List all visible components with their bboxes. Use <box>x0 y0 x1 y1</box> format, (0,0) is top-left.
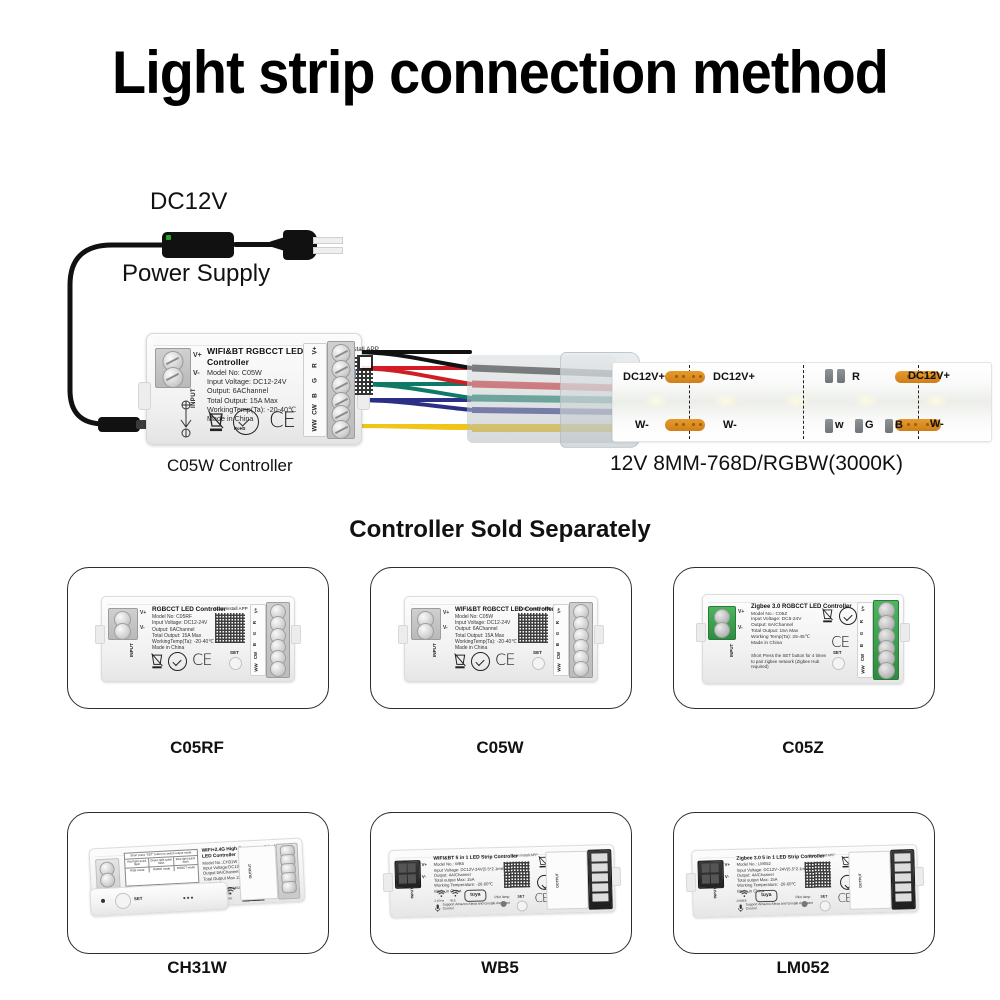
input-terminal-block <box>108 608 138 640</box>
screw-icon <box>270 661 286 677</box>
weee-bin-icon <box>821 607 834 623</box>
output-terminal-label-g: G <box>555 632 560 635</box>
set-button[interactable] <box>832 657 845 670</box>
terminal-slot <box>592 863 608 871</box>
microphone-icon <box>738 904 744 913</box>
output-terminal-labels: V+ R G B CW WW <box>857 602 873 678</box>
strip-label-dc12v-1: DC12V+ <box>623 371 665 383</box>
strip-label-r: R <box>852 371 860 383</box>
input-label: INPUT <box>129 643 134 657</box>
output-terminal-label-ww: WW <box>312 418 319 434</box>
led-strip-caption: 12V 8MM-768D/RGBW(3000K) <box>610 452 903 476</box>
card-caption-c05rf: C05RF <box>67 738 327 758</box>
qr-caption: Scan install APP <box>808 853 834 858</box>
contact-pad <box>825 419 833 433</box>
terminal-slot <box>895 883 911 891</box>
output-terminal-label-ww: WW <box>557 663 562 671</box>
output-terminal-block <box>266 602 290 678</box>
input-label: INPUT <box>410 888 414 899</box>
output-terminal-block <box>873 600 899 680</box>
strip-label-g: G <box>865 419 874 431</box>
input-terminal-block <box>411 608 441 640</box>
output-terminal-label-ww: WW <box>861 665 866 673</box>
weee-bin-icon <box>207 410 225 432</box>
terminal-slot <box>592 873 608 881</box>
input-label: INPUT <box>713 888 717 899</box>
output-terminal-block <box>275 843 300 900</box>
input-terminal-label-vplus: V+ <box>724 862 730 867</box>
output-terminal-label-cw: CW <box>312 402 319 418</box>
mounting-ear-right <box>900 623 910 642</box>
qr-code-icon <box>805 861 832 888</box>
screw-icon <box>573 661 589 677</box>
set-button-label: SET <box>820 894 827 898</box>
input-label: INPUT <box>729 644 734 657</box>
output-terminal-block <box>587 849 613 910</box>
mounting-ear-left <box>686 873 696 892</box>
output-terminal-label-vplus: V+ <box>556 608 561 614</box>
microphone-icon <box>435 904 441 913</box>
mode-cell: RGBCT mode <box>174 865 198 871</box>
mounting-ear-left <box>383 873 393 892</box>
card-lm052[interactable]: V+ V- Zigbee 3.0 5 in 1 LED Strip Contro… <box>673 812 935 954</box>
output-terminal-label-b: B <box>252 643 257 646</box>
set-button[interactable] <box>532 657 545 670</box>
terminal-slot <box>895 873 911 881</box>
mounting-ear-right <box>914 867 924 886</box>
terminal-slot <box>399 863 407 872</box>
screw-icon <box>878 662 895 679</box>
input-terminal-label-vminus: V- <box>193 370 200 377</box>
device-c05rf: V+ V- RGBCCT LED Controller Model No: C0… <box>101 596 295 682</box>
led-glow <box>713 393 739 409</box>
output-terminal-block <box>890 849 916 910</box>
screw-icon <box>417 623 434 640</box>
screw-icon <box>714 622 730 638</box>
output-terminal-label-vplus: V+ <box>312 343 319 359</box>
output-terminal-label-cw: CW <box>556 652 561 659</box>
zigbee-icon <box>739 889 749 897</box>
output-terminal-labels: V+ R G B CW WW <box>250 604 266 676</box>
device-c05z: V+ V- Zigbee 3.0 RGBCCT LED Controller M… <box>702 594 904 684</box>
ce-mark-icon: CE <box>831 633 849 651</box>
cut-line <box>803 365 804 439</box>
terminal-slot <box>702 874 710 883</box>
terminal-slot <box>711 874 719 883</box>
led-glow <box>643 393 669 409</box>
input-terminal-block <box>697 860 724 889</box>
qr-code-icon <box>504 861 531 888</box>
card-caption-lm052: LM052 <box>673 958 933 978</box>
mounting-ear-right <box>611 867 621 886</box>
card-c05rf[interactable]: V+ V- RGBCCT LED Controller Model No: C0… <box>67 567 329 709</box>
terminal-slot <box>591 853 607 861</box>
pilot-lamp-text: Pilot lamp <box>494 895 509 899</box>
strip-label-dc12v-3: DC12V+ <box>908 370 950 382</box>
certification-badges: RoHS CE SET <box>207 406 382 438</box>
input-terminal-label-vplus: V+ <box>421 862 427 867</box>
power-supply-name-label: Power Supply <box>122 260 270 288</box>
output-terminal-label-vplus: V+ <box>860 606 865 612</box>
main-controller-c05w: V+ V- WIFI&BT RGBCCT LED Controller Mode… <box>146 333 362 445</box>
set-button-label: SET <box>517 894 524 898</box>
mode-cell: RGBW mode <box>150 866 175 872</box>
led-glow <box>853 393 879 409</box>
screw-icon <box>114 623 131 640</box>
led-glow <box>923 393 949 409</box>
wire-blue <box>352 398 472 402</box>
card-caption-ch31w: CH31W <box>67 958 327 978</box>
input-terminal-label-vplus: V+ <box>738 609 744 615</box>
terminal-slot <box>894 853 910 861</box>
strip-label-dc12v-2: DC12V+ <box>713 371 755 383</box>
contact-pad <box>855 419 863 433</box>
mode-cell: RGB mode <box>126 868 151 874</box>
output-terminal-label-b: B <box>555 643 560 646</box>
input-terminal-label-vplus: V+ <box>140 610 146 616</box>
terminal-slot <box>711 863 719 872</box>
device-c05w: V+ V- WIFI&BT RGBCCT LED Controller Mode… <box>404 596 598 682</box>
set-button[interactable] <box>517 900 528 911</box>
output-terminal-label-g: G <box>252 632 257 635</box>
dc-barrel-jack <box>98 417 140 432</box>
output-terminal-label-r: R <box>252 621 257 624</box>
qr-eye <box>358 355 373 370</box>
terminal-slot <box>592 883 608 891</box>
tuya-logo: tuya <box>755 890 777 903</box>
terminal-slot <box>408 874 416 883</box>
rohs-icon <box>471 652 490 671</box>
output-terminal-labels: V+ R G B CW WW <box>553 604 569 676</box>
input-terminal-label-vminus: V- <box>140 625 145 631</box>
mounting-ear-left <box>398 625 408 644</box>
input-label: INPUT <box>191 388 197 408</box>
output-terminal-labels: OUTPUT <box>545 851 589 910</box>
ce-mark-icon: CE <box>192 650 212 669</box>
solder-pad <box>665 371 705 383</box>
mounting-ear-left <box>696 623 706 642</box>
indicator-led-icon <box>101 899 105 903</box>
input-terminal-block <box>708 606 736 640</box>
pilot-lamp-label: Pilot lamp <box>795 895 810 899</box>
wifi-icon <box>436 889 446 897</box>
output-terminal-label-vplus: V+ <box>253 608 258 614</box>
product-diagram-page: Light strip connection method DC12V Powe… <box>0 0 1000 1000</box>
rohs-label: RoHS <box>234 426 245 431</box>
output-label: OUTPUT <box>858 873 862 888</box>
screw-icon <box>100 872 116 888</box>
power-supply-voltage-label: DC12V <box>150 188 227 216</box>
qr-caption: Scan install APP <box>517 606 551 611</box>
output-label: OUTPUT <box>248 864 253 879</box>
screw-icon <box>281 881 297 894</box>
set-button-label: SET <box>533 650 542 655</box>
strip-label-wminus-3: W- <box>930 418 944 430</box>
output-terminal-label-cw: CW <box>860 654 865 661</box>
sold-separately-heading: Controller Sold Separately <box>0 516 1000 544</box>
page-title: Light strip connection method <box>35 38 965 107</box>
output-terminal-label-g: G <box>859 632 864 635</box>
rohs-icon <box>233 409 259 435</box>
device-wb5: V+ V- WIFI&BT 5 in 1 LED Strip Controlle… <box>388 844 616 918</box>
input-terminal-block <box>394 860 421 889</box>
output-label: OUTPUT <box>555 873 559 888</box>
card-caption-wb5: WB5 <box>370 958 630 978</box>
card-caption-c05w: C05W <box>370 738 630 758</box>
rohs-icon <box>839 607 857 625</box>
contact-pad <box>837 369 845 383</box>
mounting-ear-left <box>95 625 105 644</box>
set-button-label: SET <box>833 650 842 655</box>
input-terminal-label-vminus: V- <box>725 874 729 879</box>
screw-icon <box>332 420 351 439</box>
ce-mark-icon: CE <box>269 408 295 432</box>
output-terminal-label-cw: CW <box>253 652 258 659</box>
set-button-label: SET <box>230 650 239 655</box>
terminal-slot <box>895 863 911 871</box>
output-terminal-block <box>327 341 355 439</box>
strip-label-w-small: w <box>835 419 844 431</box>
card-c05w[interactable]: V+ V- WIFI&BT RGBCCT LED Controller Mode… <box>370 567 632 709</box>
strip-label-wminus-1: W- <box>635 419 649 431</box>
output-terminal-label-r: R <box>312 358 319 374</box>
rohs-icon <box>168 652 187 671</box>
qr-code-icon <box>518 613 548 643</box>
weee-bin-icon <box>453 652 467 669</box>
screw-icon <box>163 367 184 388</box>
terminal-slot <box>408 863 416 872</box>
input-terminal-block <box>95 858 121 889</box>
ac-plug-icon <box>283 230 317 260</box>
input-terminal-label-vplus: V+ <box>193 352 202 359</box>
zigbee-pairing-note: Short Press the SET button for 4 times t… <box>751 653 829 670</box>
vent-dots-icon: ••• <box>183 893 195 903</box>
card-wb5[interactable]: V+ V- WIFI&BT 5 in 1 LED Strip Controlle… <box>370 812 632 954</box>
output-terminal-labels: OUTPUT <box>238 845 279 901</box>
card-ch31w[interactable]: Short press "SET" button to switch outpu… <box>67 812 329 954</box>
input-terminal-label-vminus: V- <box>738 625 743 631</box>
output-mode-table: Short press "SET" button to switch outpu… <box>124 849 200 887</box>
input-terminal-label-vplus: V+ <box>443 610 449 616</box>
strip-label-b: B <box>895 419 903 431</box>
output-terminal-labels: OUTPUT <box>848 851 892 910</box>
contact-pad <box>885 419 893 433</box>
terminal-slot <box>399 874 407 883</box>
output-terminal-label-g: G <box>312 373 319 389</box>
mounting-ear-left <box>138 382 151 410</box>
qr-caption: Scan install APP <box>214 606 248 611</box>
set-button[interactable] <box>115 892 132 909</box>
led-glow <box>783 393 809 409</box>
mounting-ear-right <box>291 625 301 644</box>
output-terminal-label-r: R <box>555 621 560 624</box>
strip-label-wminus-2: W- <box>723 419 737 431</box>
terminal-slot <box>702 863 710 872</box>
card-caption-c05z: C05Z <box>673 738 933 758</box>
device-ch31w-underside: SET ••• <box>89 881 228 916</box>
output-terminal-label-ww: WW <box>254 663 259 671</box>
ce-mark-icon: CE <box>495 650 515 669</box>
input-terminal-label-vminus: V- <box>422 874 426 879</box>
terminal-slot <box>592 893 608 901</box>
contact-pad <box>825 369 833 383</box>
device-lm052: V+ V- Zigbee 3.0 5 in 1 LED Strip Contro… <box>691 844 919 918</box>
set-button-label: SET <box>134 896 143 901</box>
set-button[interactable] <box>820 900 831 911</box>
power-led-icon <box>166 235 171 240</box>
qr-caption: Scan install APP <box>511 853 537 858</box>
terminal-slot <box>895 893 911 901</box>
mounting-ear-right <box>594 625 604 644</box>
set-button[interactable] <box>229 657 242 670</box>
bluetooth-icon <box>450 889 460 897</box>
output-terminal-label-b: B <box>859 644 864 647</box>
weee-bin-icon <box>150 652 164 669</box>
qr-code-icon <box>215 613 245 643</box>
input-terminal-block <box>155 348 191 388</box>
power-supply-brick <box>162 232 234 258</box>
tuya-logo: tuya <box>464 889 486 902</box>
solder-pad <box>665 419 705 431</box>
card-c05z[interactable]: V+ V- Zigbee 3.0 RGBCCT LED Controller M… <box>673 567 935 709</box>
input-terminal-label-vminus: V- <box>443 625 448 631</box>
output-terminal-label-r: R <box>859 620 864 623</box>
output-terminal-block <box>569 602 593 678</box>
main-controller-caption: C05W Controller <box>167 456 293 476</box>
output-terminal-labels: V+ R G B CW WW <box>303 343 327 437</box>
input-label: INPUT <box>432 643 437 657</box>
